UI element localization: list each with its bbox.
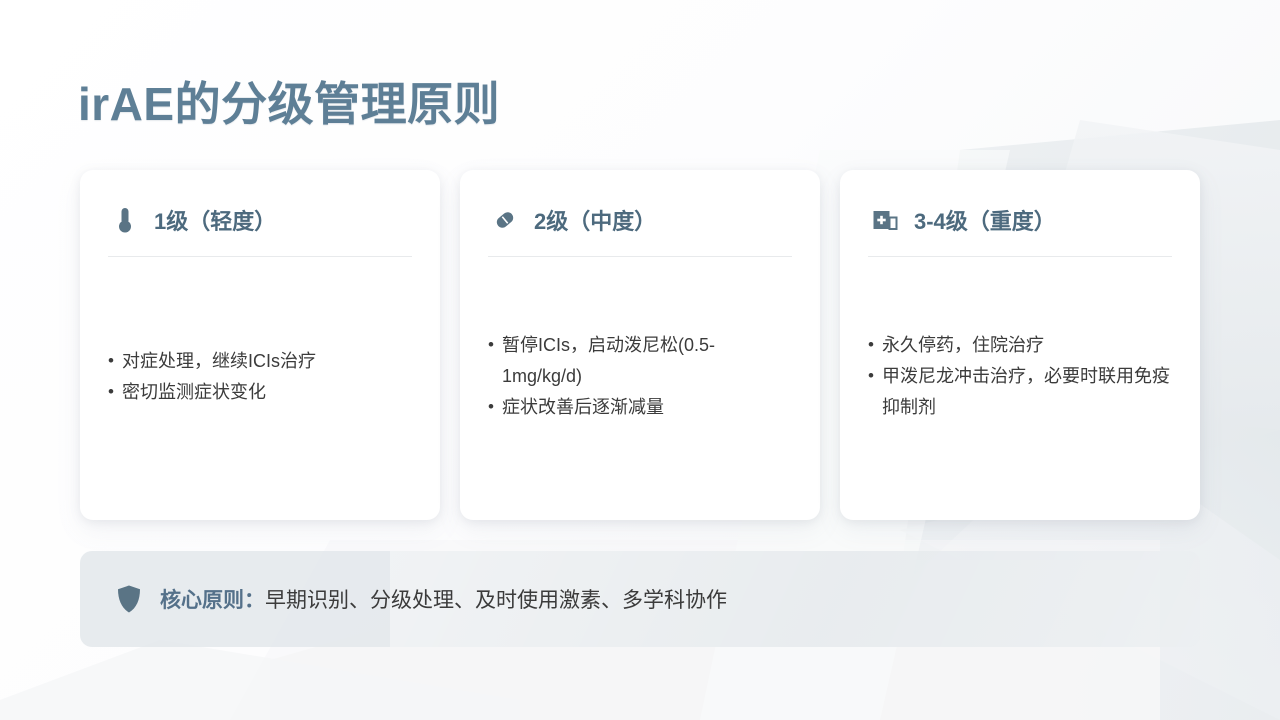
bullet-list: 永久停药，住院治疗 甲泼尼龙冲击治疗，必要时联用免疫抑制剂 xyxy=(868,330,1172,423)
list-item: 永久停药，住院治疗 xyxy=(868,330,1172,361)
page-title: irAE的分级管理原则 xyxy=(78,68,500,134)
card-header: 3-4级（重度） xyxy=(866,198,1174,242)
grade-cards-row: 1级（轻度） 对症处理，继续ICIs治疗 密切监测症状变化 xyxy=(80,170,1200,520)
shield-icon xyxy=(116,584,142,614)
banner-label: 核心原则： xyxy=(160,589,265,612)
hospital-icon xyxy=(870,205,900,235)
list-item: 对症处理，继续ICIs治疗 xyxy=(108,346,412,377)
card-title: 3-4级（重度） xyxy=(914,204,1056,236)
slide-content: irAE的分级管理原则 1级（轻度） 对症处理，继续ICIs治疗 xyxy=(0,0,1280,720)
pill-icon xyxy=(490,205,520,235)
bullet-list: 对症处理，继续ICIs治疗 密切监测症状变化 xyxy=(108,346,412,408)
card-body: 对症处理，继续ICIs治疗 密切监测症状变化 xyxy=(106,257,414,496)
key-principle-banner: 核心原则：早期识别、分级处理、及时使用激素、多学科协作 xyxy=(80,551,1200,647)
list-item: 暂停ICIs，启动泼尼松(0.5-1mg/kg/d) xyxy=(488,330,792,392)
banner-value: 早期识别、分级处理、及时使用激素、多学科协作 xyxy=(265,589,727,612)
card-title: 2级（中度） xyxy=(534,204,656,236)
card-header: 2级（中度） xyxy=(486,198,794,242)
banner-text: 核心原则：早期识别、分级处理、及时使用激素、多学科协作 xyxy=(160,584,727,614)
list-item: 甲泼尼龙冲击治疗，必要时联用免疫抑制剂 xyxy=(868,361,1172,423)
list-item: 密切监测症状变化 xyxy=(108,377,412,408)
card-title: 1级（轻度） xyxy=(154,204,276,236)
list-item: 症状改善后逐渐减量 xyxy=(488,392,792,423)
card-header: 1级（轻度） xyxy=(106,198,414,242)
thermometer-icon xyxy=(110,205,140,235)
card-body: 永久停药，住院治疗 甲泼尼龙冲击治疗，必要时联用免疫抑制剂 xyxy=(866,257,1174,496)
grade-card-level1[interactable]: 1级（轻度） 对症处理，继续ICIs治疗 密切监测症状变化 xyxy=(80,170,440,520)
grade-card-level2[interactable]: 2级（中度） 暂停ICIs，启动泼尼松(0.5-1mg/kg/d) 症状改善后逐… xyxy=(460,170,820,520)
card-body: 暂停ICIs，启动泼尼松(0.5-1mg/kg/d) 症状改善后逐渐减量 xyxy=(486,257,794,496)
grade-card-level34[interactable]: 3-4级（重度） 永久停药，住院治疗 甲泼尼龙冲击治疗，必要时联用免疫抑制剂 xyxy=(840,170,1200,520)
bullet-list: 暂停ICIs，启动泼尼松(0.5-1mg/kg/d) 症状改善后逐渐减量 xyxy=(488,330,792,423)
slide-root: irAE的分级管理原则 1级（轻度） 对症处理，继续ICIs治疗 xyxy=(0,0,1280,720)
